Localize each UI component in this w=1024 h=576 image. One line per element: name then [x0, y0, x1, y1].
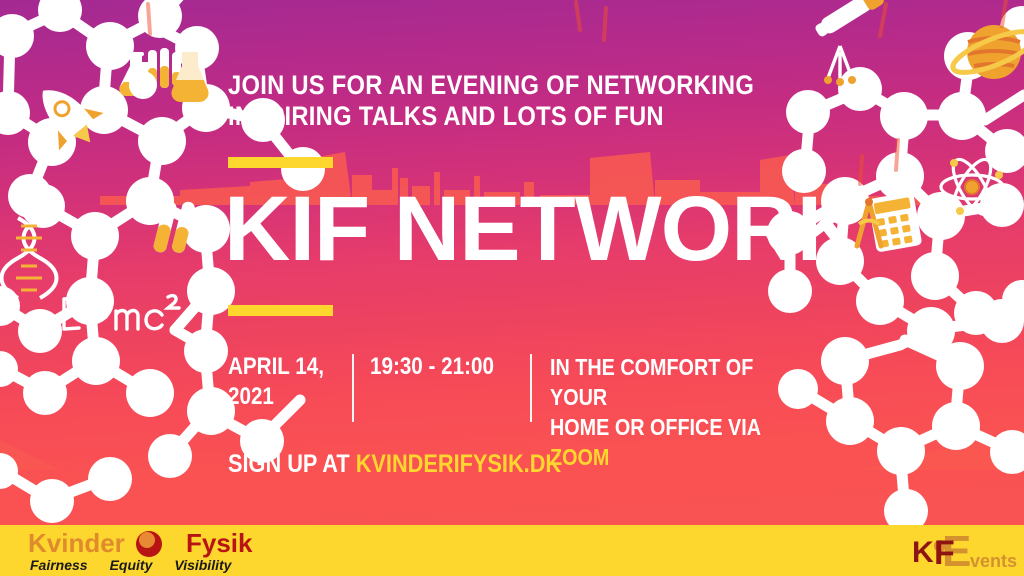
detail-divider-2	[530, 354, 532, 422]
event-time: 19:30 - 21:00	[370, 352, 494, 382]
test-tubes-lower-icon	[152, 196, 196, 258]
test-tubes-icon	[148, 48, 181, 88]
headline-text: JOIN US FOR AN EVENING OF NETWORKING INS…	[228, 70, 774, 132]
emc2-formula-decoration	[64, 296, 179, 329]
planet-saturn-icon	[948, 23, 1024, 80]
kif-letter-k: K	[912, 538, 934, 568]
tagline-fairness: Fairness	[30, 557, 88, 573]
tagline-visibility: Visibility	[174, 557, 231, 573]
kif-events-logo[interactable]: E K F vents	[912, 528, 1008, 574]
flask-large-icon	[171, 52, 208, 102]
signup-line: SIGN UP AT KVINDERIFYSIK.DK	[228, 450, 561, 479]
logo-word-kvinder: Kvinder	[28, 529, 125, 557]
logo-tagline: FairnessEquityVisibility	[30, 557, 278, 573]
tagline-equity: Equity	[110, 557, 153, 573]
poster-content: JOIN US FOR AN EVENING OF NETWORKING INS…	[228, 0, 868, 525]
calculator-icon	[868, 191, 923, 252]
atom-icon	[941, 154, 1003, 220]
dna-helix-icon	[2, 218, 57, 298]
flask-icon	[119, 52, 152, 96]
logo-word-fysik: Fysik	[186, 529, 253, 557]
event-details: APRIL 14, 2021 19:30 - 21:00 IN THE COMF…	[228, 352, 848, 424]
rocket-icon	[23, 70, 112, 161]
accent-bar-bottom	[228, 305, 333, 316]
signup-url[interactable]: KVINDERIFYSIK.DK	[356, 450, 561, 478]
event-location-line2: HOME OR OFFICE VIA	[550, 414, 760, 440]
poster-canvas: JOIN US FOR AN EVENING OF NETWORKING INS…	[0, 0, 1024, 576]
signup-prefix: SIGN UP AT	[228, 450, 356, 478]
footer-bar: Kvinder Fysik FairnessEquityVisibility E…	[0, 525, 1024, 576]
kif-letter-f: F	[934, 536, 955, 570]
event-location-line1: IN THE COMFORT OF YOUR	[550, 354, 753, 410]
detail-divider-1	[352, 354, 354, 422]
kvinder-i-fysik-logo[interactable]: Kvinder Fysik FairnessEquityVisibility	[28, 529, 278, 575]
accent-bar-top	[228, 157, 333, 168]
logo-circle-mark-icon	[136, 531, 162, 557]
event-location: IN THE COMFORT OF YOURHOME OR OFFICE VIA…	[550, 352, 806, 472]
round-flask-icon	[129, 62, 157, 99]
event-date: APRIL 14, 2021	[228, 352, 324, 412]
kif-events-suffix: vents	[970, 552, 1017, 570]
page-title: KIF NETWORK	[224, 183, 862, 275]
